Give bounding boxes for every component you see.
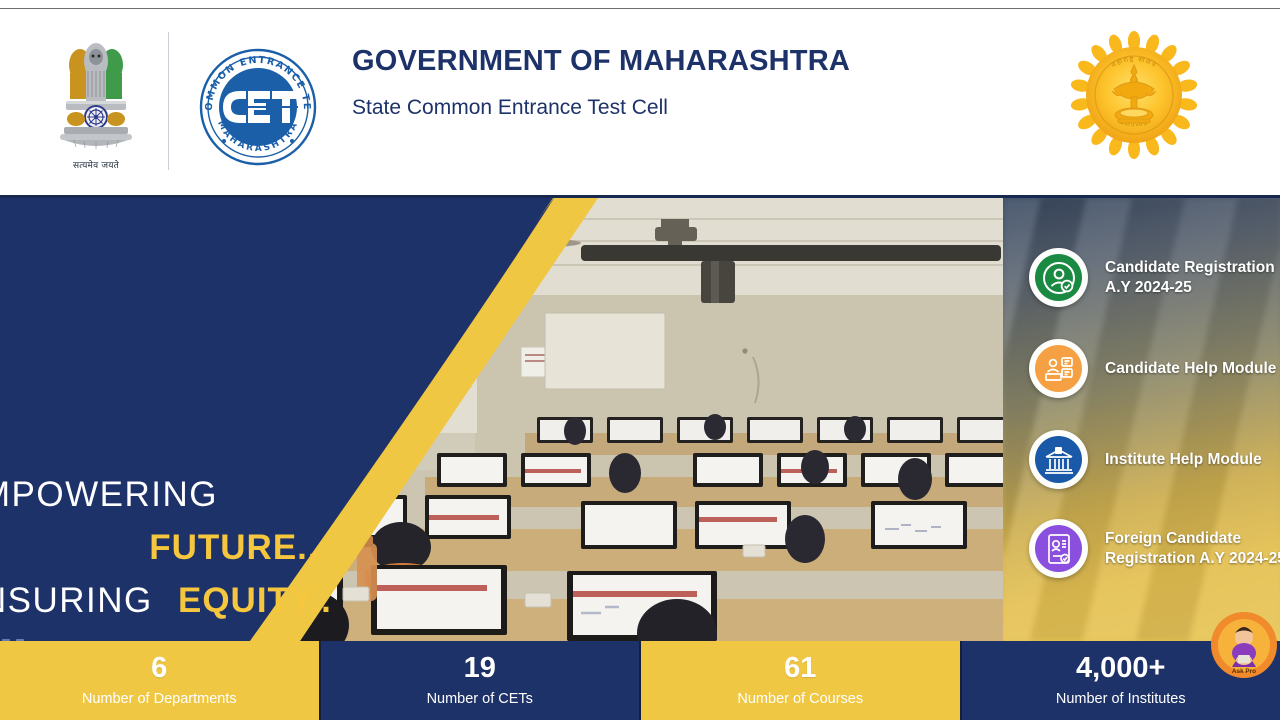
tagline-line1-yellow: FUTURE.. [149, 528, 318, 567]
hero-banner: EMPOWERING FUTURE.. ENSURING EQUITY.. [0, 195, 1280, 641]
tagline-line1-white: EMPOWERING [0, 475, 218, 514]
cet-logo-svg: STATE COMMON ENTRANCE TEST CELL MAHARASH… [186, 37, 330, 173]
quick-link-foreign-candidate-registration[interactable]: Foreign Candidate Registration A.Y 2024-… [1029, 519, 1280, 578]
help-desk-person-icon-svg [1042, 352, 1076, 386]
stat-value: 19 [464, 654, 496, 683]
stat-label: Number of Institutes [1056, 692, 1186, 707]
tagline-line2-white: ENSURING [0, 581, 153, 620]
maharashtra-state-emblem-icon: महाराष्ट्र शासन प्रतिपच्चंद्र [1070, 31, 1198, 159]
ashoka-pillar-emblem-icon: सत्यमेव जयते [52, 31, 140, 171]
stat-card-courses: 61 Number of Courses [641, 641, 962, 720]
page-top-edge [0, 0, 1280, 9]
stat-label: Number of Departments [82, 692, 237, 707]
ashoka-motto-text: सत्यमेव जयते [73, 158, 119, 171]
quick-link-candidate-registration[interactable]: Candidate Registration A.Y 2024-25 [1029, 248, 1275, 307]
quick-link-label-line1: Foreign Candidate [1105, 529, 1280, 549]
stat-card-cets: 19 Number of CETs [321, 641, 642, 720]
stat-value: 61 [784, 654, 816, 683]
institute-building-icon [1029, 430, 1088, 489]
quick-link-label: Candidate Help Module [1105, 359, 1276, 379]
user-check-circle-icon [1029, 248, 1088, 307]
quick-link-label: Institute Help Module [1105, 450, 1262, 470]
stat-label: Number of Courses [737, 692, 863, 707]
banner-top-edge [0, 195, 1280, 198]
cet-logo-icon[interactable]: STATE COMMON ENTRANCE TEST CELL MAHARASH… [186, 37, 330, 173]
quick-link-institute-help-module[interactable]: Institute Help Module [1029, 430, 1262, 489]
page-subtitle: State Common Entrance Test Cell [352, 96, 850, 120]
quick-links-list: Candidate Registration A.Y 2024-25 [1003, 198, 1280, 641]
quick-link-label: Foreign Candidate Registration A.Y 2024-… [1105, 529, 1280, 568]
header-divider [168, 32, 169, 170]
stat-card-departments: 6 Number of Departments [0, 641, 321, 720]
help-desk-person-icon [1029, 339, 1088, 398]
stat-label: Number of CETs [427, 692, 533, 707]
statistics-bar: 6 Number of Departments 19 Number of CET… [0, 641, 1280, 720]
institute-building-icon-svg [1042, 443, 1076, 477]
quick-link-label-line2: A.Y 2024-25 [1105, 278, 1275, 298]
circuit-decoration-icon [0, 635, 310, 641]
quick-links-panel: Candidate Registration A.Y 2024-25 [1003, 198, 1280, 641]
ashoka-pillar-emblem-svg [54, 39, 138, 157]
user-check-circle-icon-svg [1042, 261, 1076, 295]
document-id-check-icon-svg [1042, 532, 1076, 566]
quick-link-label: Candidate Registration A.Y 2024-25 [1105, 258, 1275, 297]
stat-value: 4,000+ [1076, 654, 1166, 683]
chatbot-avatar-icon: Ask Pro [1210, 611, 1278, 679]
quick-link-candidate-help-module[interactable]: Candidate Help Module [1029, 339, 1276, 398]
quick-link-label-line2: Registration A.Y 2024-25 [1105, 549, 1280, 569]
quick-link-label-line1: Candidate Help Module [1105, 359, 1276, 379]
site-header: सत्यमेव जयते STATE COMMON ENTRANCE TEST … [0, 9, 1280, 195]
stat-value: 6 [151, 654, 167, 683]
chatbot-label: Ask Pro [1232, 668, 1256, 675]
maharashtra-emblem-svg: महाराष्ट्र शासन प्रतिपच्चंद्र [1070, 31, 1198, 159]
chatbot-launcher-button[interactable]: Ask Pro [1210, 611, 1278, 679]
quick-link-label-line1: Candidate Registration [1105, 258, 1275, 278]
banner-tagline: EMPOWERING FUTURE.. ENSURING EQUITY.. [0, 477, 332, 618]
page-title: GOVERNMENT OF MAHARASHTRA [352, 47, 850, 76]
quick-link-label-line1: Institute Help Module [1105, 450, 1262, 470]
tagline-line2-yellow: EQUITY.. [178, 581, 332, 620]
page-root: सत्यमेव जयते STATE COMMON ENTRANCE TEST … [0, 0, 1280, 720]
header-title-block: GOVERNMENT OF MAHARASHTRA State Common E… [352, 47, 850, 120]
document-id-check-icon [1029, 519, 1088, 578]
